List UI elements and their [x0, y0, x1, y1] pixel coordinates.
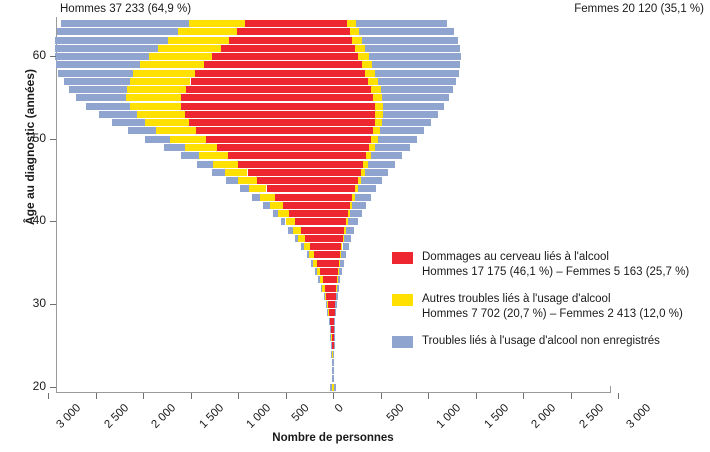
pyramid-row: [56, 103, 610, 110]
pyramid-row: [56, 210, 610, 217]
men-unrecorded-segment: [164, 144, 185, 151]
men-unrecorded-segment: [326, 301, 327, 308]
women-brain-damage-segment: [333, 70, 365, 77]
pyramid-row: [56, 28, 610, 35]
legend-item[interactable]: Autres troubles liés à l'usage d'alcoolH…: [392, 292, 704, 322]
men-unrecorded-segment: [263, 202, 270, 209]
y-axis-tick: [50, 56, 56, 57]
women-unrecorded-segment: [334, 342, 335, 349]
pyramid-row: [56, 194, 610, 201]
women-unrecorded-segment: [334, 384, 336, 391]
women-other-disorders-segment: [350, 28, 360, 35]
women-brain-damage-segment: [333, 177, 358, 184]
x-axis-tick-label: 500: [289, 402, 311, 424]
women-other-disorders-segment: [362, 61, 372, 68]
men-brain-damage-segment: [195, 70, 333, 77]
men-unrecorded-segment: [318, 276, 319, 283]
women-other-disorders-segment: [368, 78, 378, 85]
men-brain-damage-segment: [191, 78, 334, 85]
men-unrecorded-segment: [240, 185, 250, 192]
women-unrecorded-segment: [358, 185, 376, 192]
men-other-disorders-segment: [130, 78, 191, 85]
x-axis-tick-label: 1 000: [244, 402, 273, 431]
men-unrecorded-segment: [331, 342, 332, 349]
women-other-disorders-segment: [355, 45, 365, 52]
x-axis-tick-label: 3 000: [624, 402, 653, 431]
men-brain-damage-segment: [181, 103, 333, 110]
men-other-disorders-segment: [320, 276, 323, 283]
men-other-disorders-segment: [260, 194, 275, 201]
legend-color-swatch: [392, 252, 413, 264]
y-axis-title: Âge au diagnostic (années): [23, 47, 37, 247]
x-axis-tick-label: 2 500: [102, 402, 131, 431]
men-other-disorders-segment: [225, 169, 247, 176]
pyramid-row: [56, 37, 610, 44]
pyramid-row: [56, 384, 610, 391]
women-unrecorded-segment: [362, 37, 458, 44]
men-unrecorded-segment: [64, 78, 130, 85]
women-other-disorders-segment: [373, 94, 382, 101]
women-unrecorded-segment: [355, 194, 371, 201]
men-brain-damage-segment: [229, 37, 333, 44]
men-unrecorded-segment: [281, 218, 286, 225]
men-brain-damage-segment: [248, 169, 334, 176]
men-other-disorders-segment: [213, 161, 238, 168]
men-brain-damage-segment: [275, 194, 333, 201]
women-brain-damage-segment: [333, 251, 340, 258]
legend-label: Autres troubles liés à l'usage d'alcool: [422, 292, 704, 307]
men-unrecorded-segment: [128, 127, 157, 134]
x-axis-tick: [571, 393, 572, 399]
men-brain-damage-segment: [238, 161, 333, 168]
pyramid-row: [56, 136, 610, 143]
men-brain-damage-segment: [221, 45, 333, 52]
legend-item[interactable]: Dommages au cerveau liés à l'alcoolHomme…: [392, 250, 704, 280]
legend-text: Troubles liés à l'usage d'alcool non enr…: [422, 334, 704, 349]
men-unrecorded-segment: [324, 293, 325, 300]
women-other-disorders-segment: [371, 86, 381, 93]
women-unrecorded-segment: [375, 144, 410, 151]
pyramid-row: [56, 111, 610, 118]
women-unrecorded-segment: [339, 268, 343, 275]
men-other-disorders-segment: [189, 20, 245, 27]
women-brain-damage-segment: [333, 136, 371, 143]
men-unrecorded-segment: [315, 268, 317, 275]
men-other-disorders-segment: [325, 293, 327, 300]
women-unrecorded-segment: [333, 359, 334, 366]
legend-label: Dommages au cerveau liés à l'alcool: [422, 250, 704, 265]
men-other-disorders-segment: [309, 251, 314, 258]
women-unrecorded-segment: [346, 227, 355, 234]
women-other-disorders-segment: [375, 119, 382, 126]
men-unrecorded-segment: [56, 61, 141, 68]
women-brain-damage-segment: [333, 227, 344, 234]
women-brain-damage-segment: [333, 144, 369, 151]
women-brain-damage-segment: [333, 152, 366, 159]
men-other-disorders-segment: [238, 177, 257, 184]
pyramid-row: [56, 70, 610, 77]
pyramid-row: [56, 218, 610, 225]
women-unrecorded-segment: [369, 53, 461, 60]
women-brain-damage-segment: [333, 53, 358, 60]
men-brain-damage-segment: [245, 20, 333, 27]
women-brain-damage-segment: [333, 194, 352, 201]
x-axis-tick: [238, 393, 239, 399]
men-other-disorders-segment: [313, 260, 317, 267]
men-other-disorders-segment: [126, 94, 181, 101]
legend-text: Autres troubles liés à l'usage d'alcoolH…: [422, 292, 704, 322]
men-brain-damage-segment: [257, 177, 333, 184]
women-other-disorders-segment: [347, 20, 356, 27]
legend-item[interactable]: Troubles liés à l'usage d'alcool non enr…: [392, 334, 704, 349]
men-brain-damage-segment: [237, 28, 333, 35]
men-brain-damage-segment: [212, 53, 333, 60]
pyramid-row: [56, 20, 610, 27]
women-total-label: Femmes 20 120 (35,1 %): [574, 2, 704, 16]
women-brain-damage-segment: [333, 78, 368, 85]
women-brain-damage-segment: [333, 103, 375, 110]
women-unrecorded-segment: [359, 28, 454, 35]
women-unrecorded-segment: [333, 367, 334, 374]
x-axis-title: Nombre de personnes: [0, 432, 666, 444]
pyramid-row: [56, 144, 610, 151]
x-axis-end-cap: [610, 386, 611, 393]
legend-detail: Hommes 17 175 (46,1 %) – Femmes 5 163 (2…: [422, 265, 704, 280]
men-unrecorded-segment: [329, 318, 330, 325]
men-other-disorders-segment: [326, 301, 327, 308]
men-unrecorded-segment: [273, 210, 279, 217]
women-unrecorded-segment: [334, 334, 335, 341]
pyramid-row: [56, 227, 610, 234]
x-axis-tick-label: 2 000: [149, 402, 178, 431]
women-brain-damage-segment: [333, 119, 375, 126]
women-brain-damage-segment: [333, 45, 355, 52]
men-unrecorded-segment: [226, 177, 237, 184]
x-axis-tick: [96, 393, 97, 399]
men-brain-damage-segment: [196, 127, 333, 134]
men-other-disorders-segment: [178, 28, 237, 35]
women-unrecorded-segment: [333, 351, 334, 358]
men-other-disorders-segment: [199, 152, 228, 159]
x-axis-tick-label: 0: [333, 402, 346, 415]
men-unrecorded-segment: [112, 119, 145, 126]
x-axis-tick: [143, 393, 144, 399]
men-unrecorded-segment: [55, 37, 168, 44]
women-brain-damage-segment: [333, 111, 375, 118]
women-brain-damage-segment: [333, 169, 361, 176]
women-brain-damage-segment: [333, 202, 350, 209]
men-brain-damage-segment: [185, 111, 333, 118]
y-axis-tick-label: 30: [4, 296, 46, 310]
men-unrecorded-segment: [311, 260, 313, 267]
women-unrecorded-segment: [356, 20, 447, 27]
men-other-disorders-segment: [270, 202, 283, 209]
x-axis-tick-label: 2 000: [529, 402, 558, 431]
women-unrecorded-segment: [333, 375, 334, 382]
men-other-disorders-segment: [317, 268, 320, 275]
women-unrecorded-segment: [383, 111, 438, 118]
men-brain-damage-segment: [326, 293, 333, 300]
men-unrecorded-segment: [86, 103, 130, 110]
men-other-disorders-segment: [304, 243, 310, 250]
men-brain-damage-segment: [317, 260, 333, 267]
x-axis-tick: [191, 393, 192, 399]
x-axis-tick-label: 2 500: [577, 402, 606, 431]
men-other-disorders-segment: [322, 285, 324, 292]
men-brain-damage-segment: [189, 119, 333, 126]
women-unrecorded-segment: [361, 177, 382, 184]
men-unrecorded-segment: [181, 152, 199, 159]
men-brain-damage-segment: [228, 152, 333, 159]
women-unrecorded-segment: [337, 285, 339, 292]
men-other-disorders-segment: [130, 103, 181, 110]
women-other-disorders-segment: [373, 127, 380, 134]
women-brain-damage-segment: [333, 86, 371, 93]
women-unrecorded-segment: [334, 326, 335, 333]
women-other-disorders-segment: [358, 53, 368, 60]
legend-text: Dommages au cerveau liés à l'alcoolHomme…: [422, 250, 704, 280]
women-brain-damage-segment: [333, 210, 348, 217]
y-axis-tick: [50, 221, 56, 222]
pyramid-row: [56, 235, 610, 242]
pyramid-row: [56, 169, 610, 176]
x-axis-tick: [333, 393, 334, 399]
pyramid-row: [56, 53, 610, 60]
men-unrecorded-segment: [76, 94, 126, 101]
men-total-label: Hommes 37 233 (64,9 %): [60, 2, 191, 16]
men-brain-damage-segment: [289, 210, 333, 217]
pyramid-row: [56, 86, 610, 93]
men-unrecorded-segment: [61, 20, 188, 27]
pyramid-row: [56, 127, 610, 134]
men-other-disorders-segment: [127, 86, 186, 93]
men-unrecorded-segment: [69, 86, 127, 93]
x-axis-tick: [618, 393, 619, 399]
legend-color-swatch: [392, 336, 413, 348]
women-unrecorded-segment: [348, 218, 358, 225]
men-unrecorded-segment: [330, 384, 332, 391]
y-axis-tick: [50, 387, 56, 388]
pyramid-row: [56, 45, 610, 52]
legend-detail: Hommes 7 702 (20,7 %) – Femmes 2 413 (12…: [422, 307, 704, 322]
men-brain-damage-segment: [181, 94, 333, 101]
men-unrecorded-segment: [145, 136, 170, 143]
pyramid-row: [56, 61, 610, 68]
legend-color-swatch: [392, 294, 413, 306]
men-other-disorders-segment: [149, 53, 213, 60]
men-unrecorded-segment: [197, 161, 212, 168]
y-axis-tick: [50, 139, 56, 140]
men-other-disorders-segment: [170, 136, 206, 143]
women-other-disorders-segment: [352, 37, 362, 44]
women-brain-damage-segment: [333, 235, 343, 242]
x-axis-tick-label: 1 500: [197, 402, 226, 431]
women-unrecorded-segment: [335, 309, 336, 316]
population-pyramid-chart: Hommes 37 233 (64,9 %) Femmes 20 120 (35…: [0, 0, 710, 452]
women-unrecorded-segment: [344, 235, 351, 242]
women-unrecorded-segment: [378, 78, 456, 85]
women-unrecorded-segment: [382, 119, 431, 126]
women-unrecorded-segment: [350, 210, 362, 217]
men-other-disorders-segment: [168, 37, 230, 44]
women-unrecorded-segment: [368, 161, 395, 168]
pyramid-row: [56, 185, 610, 192]
men-other-disorders-segment: [140, 61, 204, 68]
men-unrecorded-segment: [252, 194, 260, 201]
legend-label: Troubles liés à l'usage d'alcool non enr…: [422, 334, 704, 349]
men-other-disorders-segment: [249, 185, 266, 192]
men-other-disorders-segment: [156, 127, 196, 134]
men-brain-damage-segment: [305, 235, 333, 242]
x-axis-tick: [476, 393, 477, 399]
men-unrecorded-segment: [301, 243, 304, 250]
men-unrecorded-segment: [321, 285, 322, 292]
y-axis-tick-label: 20: [4, 379, 46, 393]
men-other-disorders-segment: [185, 144, 217, 151]
men-other-disorders-segment: [133, 70, 196, 77]
women-brain-damage-segment: [333, 37, 352, 44]
men-brain-damage-segment: [320, 268, 333, 275]
women-unrecorded-segment: [375, 70, 459, 77]
x-axis-tick: [381, 393, 382, 399]
pyramid-row: [56, 161, 610, 168]
men-brain-damage-segment: [323, 276, 333, 283]
women-unrecorded-segment: [340, 260, 344, 267]
men-brain-damage-segment: [325, 285, 333, 292]
women-other-disorders-segment: [375, 111, 383, 118]
men-brain-damage-segment: [267, 185, 334, 192]
men-brain-damage-segment: [301, 227, 333, 234]
pyramid-row: [56, 177, 610, 184]
women-unrecorded-segment: [372, 61, 460, 68]
men-brain-damage-segment: [295, 218, 333, 225]
women-brain-damage-segment: [333, 218, 346, 225]
legend: Dommages au cerveau liés à l'alcoolHomme…: [392, 250, 704, 361]
pyramid-row: [56, 375, 610, 382]
y-axis-tick: [50, 304, 56, 305]
women-brain-damage-segment: [333, 243, 341, 250]
men-unrecorded-segment: [327, 309, 328, 316]
women-brain-damage-segment: [333, 20, 347, 27]
men-unrecorded-segment: [99, 111, 137, 118]
women-unrecorded-segment: [378, 136, 417, 143]
x-axis-tick-label: 1 000: [434, 402, 463, 431]
men-other-disorders-segment: [145, 119, 189, 126]
pyramid-row: [56, 94, 610, 101]
pyramid-row: [56, 202, 610, 209]
men-other-disorders-segment: [286, 218, 296, 225]
women-unrecorded-segment: [383, 103, 444, 110]
women-unrecorded-segment: [334, 318, 335, 325]
women-unrecorded-segment: [365, 45, 460, 52]
women-unrecorded-segment: [382, 94, 449, 101]
men-other-disorders-segment: [298, 235, 305, 242]
women-brain-damage-segment: [333, 161, 363, 168]
pyramid-row: [56, 367, 610, 374]
pyramid-row: [56, 78, 610, 85]
men-brain-damage-segment: [217, 144, 333, 151]
women-brain-damage-segment: [333, 28, 350, 35]
women-unrecorded-segment: [365, 169, 389, 176]
pyramid-row: [56, 119, 610, 126]
men-unrecorded-segment: [307, 251, 309, 258]
women-brain-damage-segment: [333, 127, 373, 134]
women-brain-damage-segment: [333, 94, 373, 101]
x-axis-tick-label: 500: [384, 402, 406, 424]
x-axis-tick: [286, 393, 287, 399]
men-unrecorded-segment: [330, 334, 331, 341]
men-brain-damage-segment: [314, 251, 333, 258]
women-unrecorded-segment: [341, 251, 346, 258]
men-unrecorded-segment: [212, 169, 225, 176]
women-brain-damage-segment: [333, 61, 362, 68]
women-unrecorded-segment: [338, 276, 341, 283]
women-other-disorders-segment: [375, 103, 383, 110]
women-unrecorded-segment: [352, 202, 365, 209]
women-brain-damage-segment: [333, 185, 355, 192]
men-unrecorded-segment: [55, 53, 149, 60]
men-other-disorders-segment: [137, 111, 185, 118]
men-other-disorders-segment: [293, 227, 301, 234]
x-axis-tick: [48, 393, 49, 399]
women-unrecorded-segment: [371, 152, 402, 159]
women-unrecorded-segment: [343, 243, 349, 250]
men-unrecorded-segment: [288, 227, 292, 234]
men-brain-damage-segment: [186, 86, 333, 93]
men-unrecorded-segment: [330, 326, 331, 333]
men-unrecorded-segment: [55, 45, 159, 52]
men-brain-damage-segment: [206, 136, 333, 143]
men-brain-damage-segment: [310, 243, 333, 250]
men-unrecorded-segment: [57, 28, 179, 35]
x-axis-tick-label: 3 000: [54, 402, 83, 431]
men-brain-damage-segment: [283, 202, 333, 209]
women-unrecorded-segment: [381, 86, 453, 93]
women-other-disorders-segment: [365, 70, 375, 77]
x-axis-tick-label: 1 500: [482, 402, 511, 431]
men-unrecorded-segment: [295, 235, 299, 242]
women-unrecorded-segment: [380, 127, 424, 134]
pyramid-row: [56, 152, 610, 159]
men-other-disorders-segment: [158, 45, 221, 52]
men-unrecorded-segment: [58, 70, 133, 77]
women-unrecorded-segment: [336, 293, 338, 300]
x-axis-tick: [523, 393, 524, 399]
men-other-disorders-segment: [278, 210, 289, 217]
women-unrecorded-segment: [335, 301, 337, 308]
men-brain-damage-segment: [204, 61, 333, 68]
x-axis-tick: [428, 393, 429, 399]
